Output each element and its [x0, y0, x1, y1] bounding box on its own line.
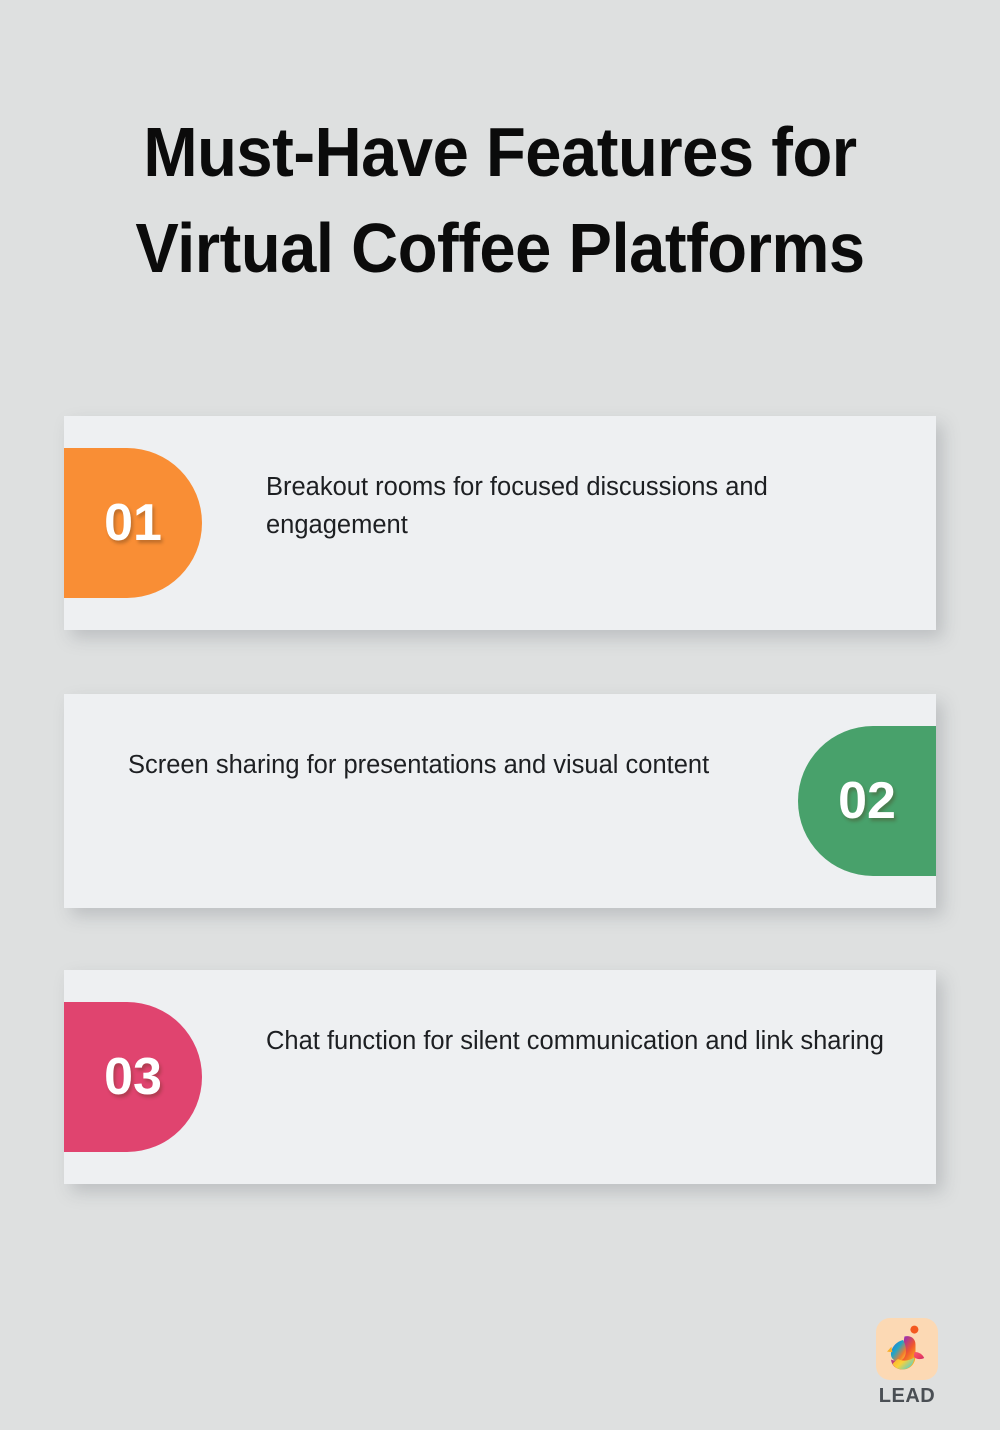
page-title-line-2: Virtual Coffee Platforms: [35, 200, 965, 296]
brand-logo: LEAD: [876, 1318, 938, 1407]
feature-card: 02 Screen sharing for presentations and …: [64, 694, 936, 908]
feature-number: 03: [104, 1051, 162, 1103]
feature-number: 01: [104, 497, 162, 549]
logo-tile: [876, 1318, 938, 1380]
logo-wordmark: LEAD: [876, 1385, 938, 1407]
lead-bird-logo-icon: [876, 1318, 938, 1380]
page-title: Must-Have Features for Virtual Coffee Pl…: [0, 104, 1000, 296]
feature-number-badge: 01: [64, 448, 202, 598]
feature-card: 03 Chat function for silent communicatio…: [64, 970, 936, 1184]
feature-description: Chat function for silent communication a…: [266, 1022, 886, 1060]
page-title-line-1: Must-Have Features for: [35, 104, 965, 200]
feature-number-badge: 03: [64, 1002, 202, 1152]
feature-number-badge: 02: [798, 726, 936, 876]
feature-number: 02: [838, 775, 896, 827]
feature-card: 01 Breakout rooms for focused discussion…: [64, 416, 936, 630]
feature-description: Screen sharing for presentations and vis…: [128, 746, 748, 784]
feature-description: Breakout rooms for focused discussions a…: [266, 468, 886, 544]
